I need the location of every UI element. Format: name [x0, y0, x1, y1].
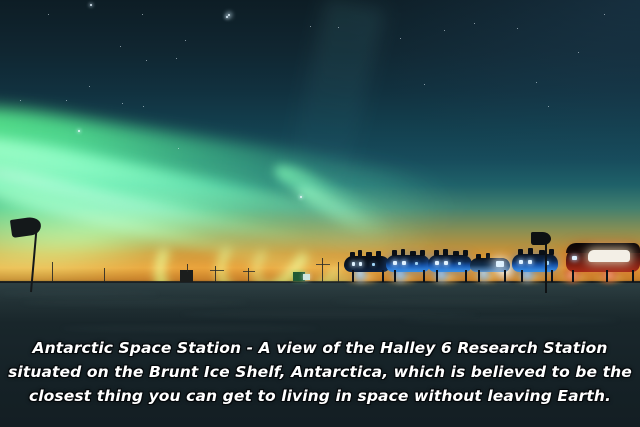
- aurora-australis: [0, 0, 640, 290]
- caption: Antarctic Space Station - A view of the …: [0, 336, 640, 408]
- photograph: Antarctic Space Station - A view of the …: [0, 0, 640, 427]
- caption-line-1: Antarctic Space Station - A view of the …: [8, 336, 632, 360]
- flag-cloth: [531, 232, 551, 245]
- caption-line-2: situated on the Brunt Ice Shelf, Antarct…: [8, 360, 632, 384]
- caption-line-3: closest thing you can get to living in s…: [8, 384, 632, 408]
